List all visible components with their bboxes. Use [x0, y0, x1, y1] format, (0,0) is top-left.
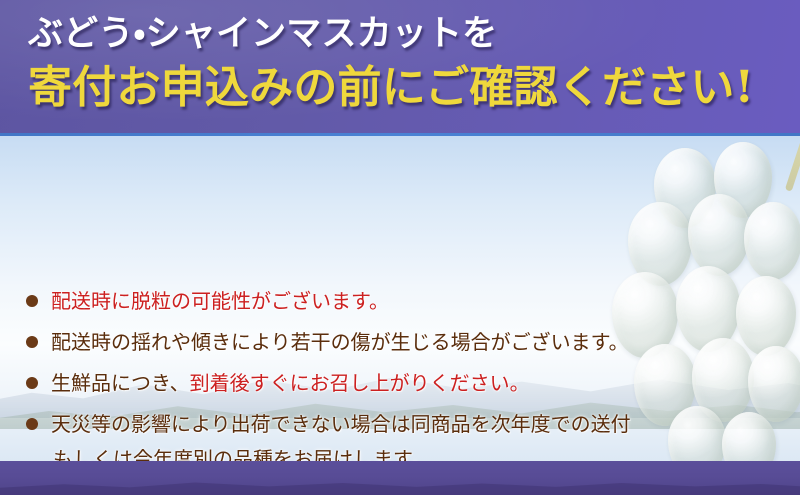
- notice-text-highlight: 到着後すぐにお召し上がりください。: [190, 371, 530, 395]
- header-title-line-2: 寄付お申込みの前にご確認ください!: [28, 60, 754, 116]
- notice-item: 配送時の揺れや傾きにより若干の傷が生じる場合がございます。: [26, 325, 726, 360]
- bullet-dot-icon: [26, 377, 38, 389]
- grape-berry: [736, 276, 796, 356]
- notice-text: 天災等の影響により出荷できない場合は同商品を次年度での送付: [51, 412, 631, 436]
- notice-item: 生鮮品につき、到着後すぐにお召し上がりください。: [26, 366, 726, 401]
- notice-line: 天災等の影響により出荷できない場合は同商品を次年度での送付: [51, 407, 726, 442]
- banner-body: 配送時に脱粒の可能性がございます。配送時の揺れや傾きにより若干の傷が生じる場合が…: [0, 136, 800, 495]
- notice-line: 配送時の揺れや傾きにより若干の傷が生じる場合がございます。: [51, 325, 726, 360]
- notice-text-highlight: 配送時に脱粒の可能性がございます。: [51, 289, 389, 313]
- grape-berry: [688, 194, 750, 276]
- header-title-line-1: ぶどう・シャインマスカットを: [28, 12, 497, 56]
- bullet-dot-icon: [26, 336, 38, 348]
- grape-berry: [744, 202, 800, 280]
- notice-banner: ぶどう・シャインマスカットを 寄付お申込みの前にご確認ください! 配送時に脱粒の…: [0, 0, 800, 495]
- notice-line: 生鮮品につき、到着後すぐにお召し上がりください。: [51, 366, 726, 401]
- notice-text: 生鮮品につき、: [51, 371, 190, 395]
- grape-berry: [748, 346, 800, 422]
- bullet-dot-icon: [26, 295, 38, 307]
- footer-band: [0, 461, 800, 495]
- footer-mountain-silhouette: [0, 471, 800, 495]
- grape-stem: [785, 138, 800, 192]
- banner-header: ぶどう・シャインマスカットを 寄付お申込みの前にご確認ください!: [0, 0, 800, 133]
- notice-item: 配送時に脱粒の可能性がございます。: [26, 284, 726, 319]
- notice-line: 配送時に脱粒の可能性がございます。: [51, 284, 726, 319]
- notice-text: 配送時の揺れや傾きにより若干の傷が生じる場合がございます。: [51, 330, 629, 354]
- bullet-dot-icon: [26, 418, 38, 430]
